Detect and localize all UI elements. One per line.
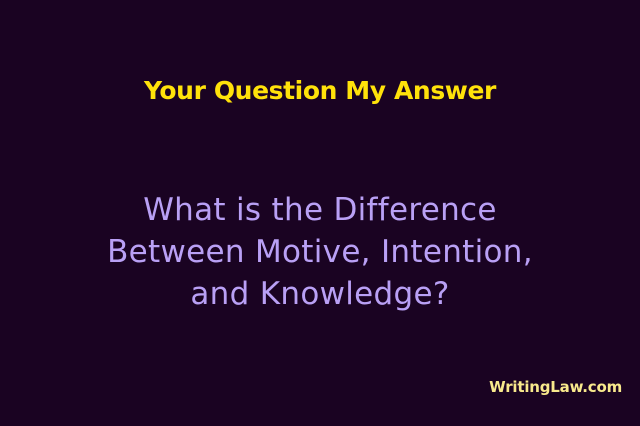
headline-line-2: Between Motive, Intention, <box>0 231 640 273</box>
headline-line-1: What is the Difference <box>0 189 640 231</box>
question-headline: What is the Difference Between Motive, I… <box>0 189 640 315</box>
headline-line-3: and Knowledge? <box>0 273 640 315</box>
brand-watermark: WritingLaw.com <box>489 378 622 396</box>
question-card: Your Question My Answer What is the Diff… <box>0 0 640 426</box>
series-title: Your Question My Answer <box>0 76 640 106</box>
